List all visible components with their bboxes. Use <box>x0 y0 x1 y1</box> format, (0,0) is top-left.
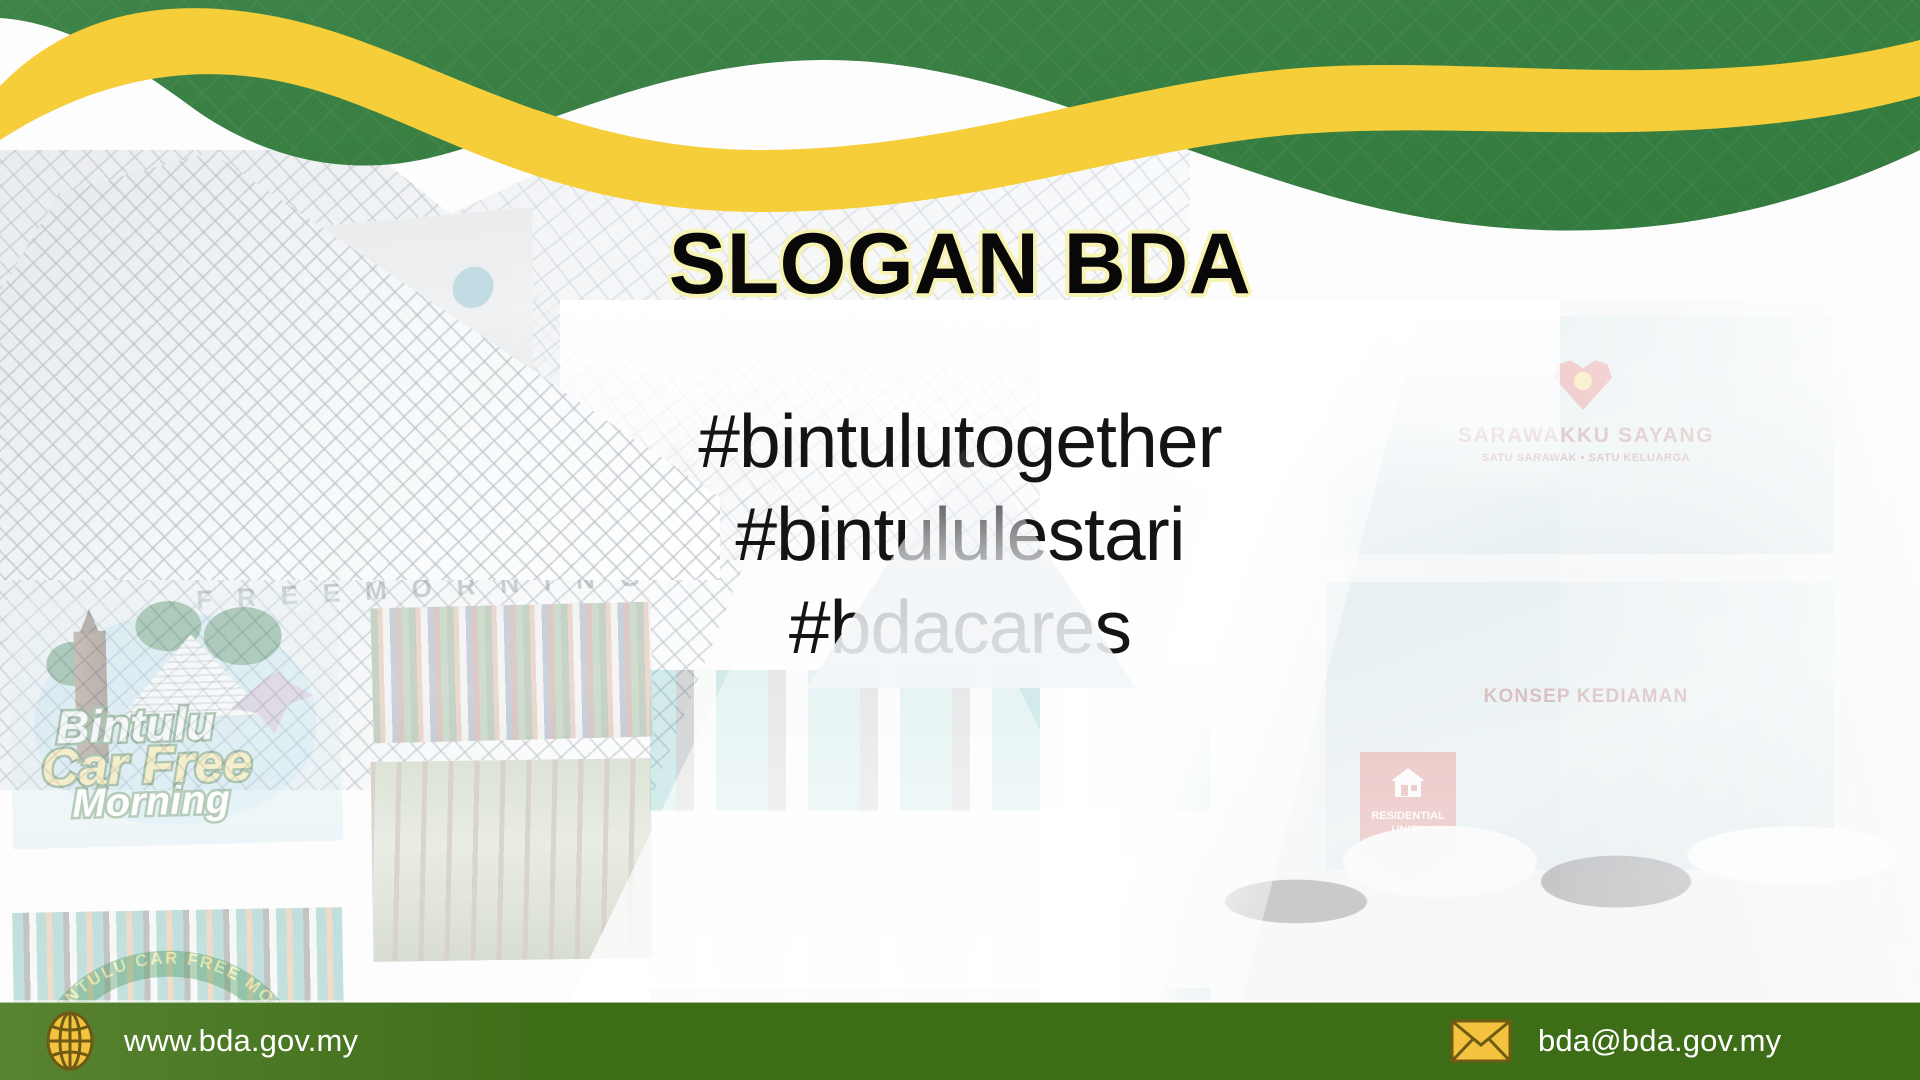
hashtag-list: #bintulutogether #bintululestari #bdacar… <box>0 395 1920 674</box>
globe-icon <box>42 1010 98 1072</box>
footer-email-label: bda@bda.gov.my <box>1538 1023 1781 1059</box>
footer-website[interactable]: www.bda.gov.my <box>42 1002 358 1080</box>
hashtag-item-1: #bintulutogether <box>0 395 1920 488</box>
cfm-logo-line3: Morning <box>72 778 231 827</box>
footer-email[interactable]: bda@bda.gov.my <box>1450 1002 1781 1080</box>
footer-divider <box>0 1000 1920 1003</box>
hashtag-item-3: #bdacares <box>0 581 1920 674</box>
page-title: SLOGAN BDA <box>0 215 1920 314</box>
footer-bar: www.bda.gov.my bda@bda.gov.my <box>0 1002 1920 1080</box>
hashtag-item-2: #bintululestari <box>0 488 1920 581</box>
envelope-icon <box>1450 1018 1512 1064</box>
footer-website-label: www.bda.gov.my <box>124 1023 358 1059</box>
banner-canvas: B I N T U L U F R E E M O R N I N G Bint… <box>0 0 1920 1080</box>
